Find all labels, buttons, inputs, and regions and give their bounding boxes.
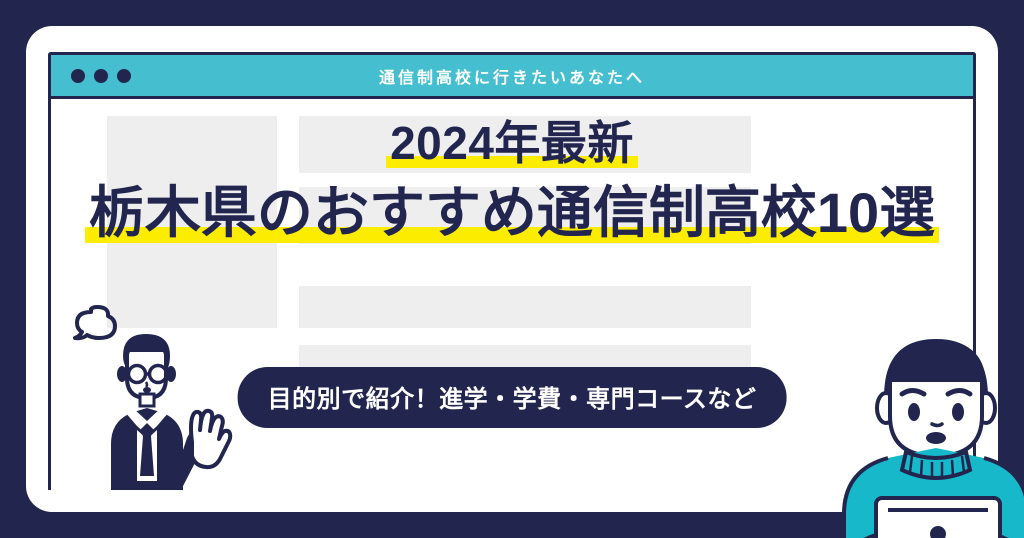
headline-group: 2024年最新 栃木県のおすすめ通信制高校10選 <box>51 119 973 243</box>
poster-stage: 通信制高校に行きたいあなたへ 2024年最新 栃木県のおすすめ通信制高校10選 … <box>0 0 1024 538</box>
headline-line-2: 栃木県のおすすめ通信制高校10選 <box>51 183 973 243</box>
person-with-laptop-illustration <box>824 302 1024 538</box>
text-placeholder-bar <box>299 286 751 328</box>
headline-line-1-text: 2024年最新 <box>386 119 638 169</box>
man-with-glasses-waving-illustration <box>61 290 261 490</box>
browser-title-text: 通信制高校に行きたいあなたへ <box>51 64 973 88</box>
subtitle-pill: 目的別で紹介！進学・学費・専門コースなど <box>238 367 787 428</box>
browser-titlebar: 通信制高校に行きたいあなたへ <box>51 55 973 99</box>
headline-line-1: 2024年最新 <box>51 119 973 169</box>
headline-line-2-text: 栃木県のおすすめ通信制高校10選 <box>85 183 939 243</box>
